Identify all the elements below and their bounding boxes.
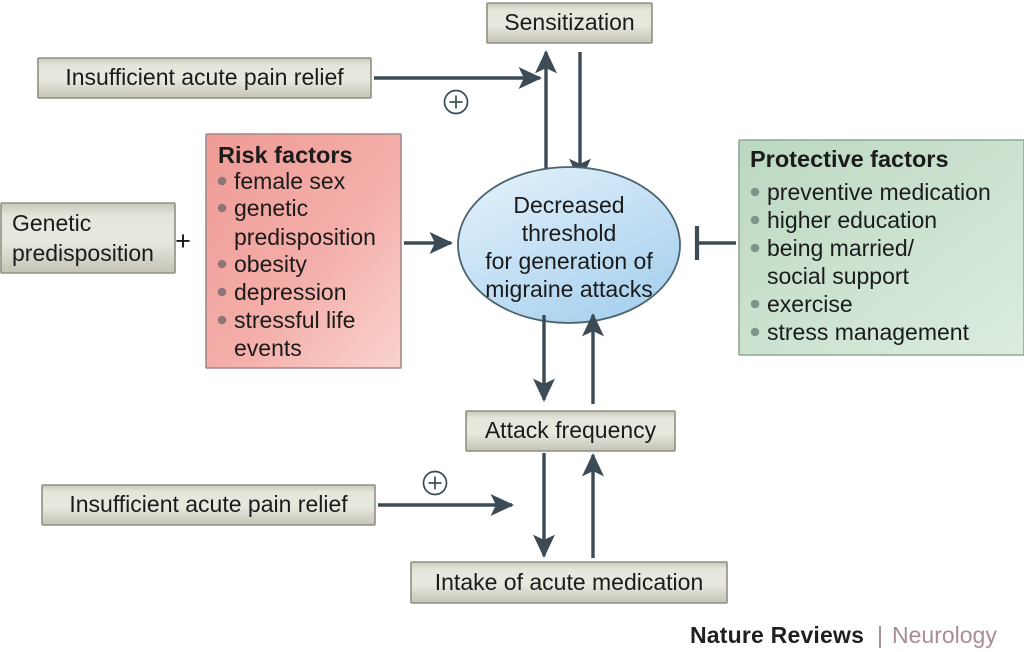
genetic-predisposition-label-line2: predisposition: [12, 240, 154, 266]
arrow-protective-factors-inhibits-ellipse: [697, 226, 736, 260]
bullet-icon: [218, 204, 227, 213]
node-insufficient-relief-top[interactable]: Insufficient acute pain relief: [38, 58, 371, 98]
credit-separator: |: [877, 622, 883, 648]
protective-factors-item-4: stress management: [767, 319, 970, 345]
bullet-icon: [751, 300, 760, 309]
risk-factors-item-4: stressful life: [234, 307, 355, 333]
credit-publisher: Nature Reviews: [690, 622, 864, 648]
sensitization-label: Sensitization: [504, 9, 634, 35]
node-intake-medication[interactable]: Intake of acute medication: [411, 562, 727, 603]
intake-medication-label: Intake of acute medication: [435, 569, 704, 595]
protective-factors-item-1: higher education: [767, 207, 937, 233]
protective-factors-item-2: being married/: [767, 235, 915, 261]
node-genetic-predisposition[interactable]: Genetic predisposition: [1, 203, 175, 273]
protective-factors-title: Protective factors: [750, 146, 949, 172]
figure-container: Sensitization Insufficient acute pain re…: [0, 0, 1024, 652]
risk-factors-item-2: obesity: [234, 251, 307, 277]
bullet-icon: [751, 216, 760, 225]
node-central-threshold[interactable]: Decreased threshold for generation of mi…: [458, 167, 680, 323]
bullet-icon: [218, 260, 227, 269]
risk-factors-item-0: female sex: [234, 168, 346, 194]
risk-factors-item-4-cont: events: [234, 335, 302, 361]
attack-frequency-label: Attack frequency: [485, 417, 657, 443]
bullet-icon: [218, 288, 227, 297]
plus-combine-operator: +: [175, 226, 191, 256]
plus-circle-top-icon: [445, 91, 468, 114]
bullet-icon: [751, 188, 760, 197]
bullet-icon: [218, 316, 227, 325]
node-attack-frequency[interactable]: Attack frequency: [466, 411, 675, 451]
genetic-predisposition-label-line1: Genetic: [12, 210, 91, 236]
central-line-0: Decreased: [513, 192, 624, 218]
protective-factors-item-2-cont: social support: [767, 263, 910, 289]
bullet-icon: [751, 244, 760, 253]
insufficient-relief-top-label: Insufficient acute pain relief: [65, 64, 344, 90]
protective-factors-item-0: preventive medication: [767, 179, 991, 205]
panel-risk-factors[interactable]: Risk factors female sex genetic predispo…: [206, 134, 401, 368]
bullet-icon: [751, 328, 760, 337]
node-sensitization[interactable]: Sensitization: [487, 3, 652, 43]
plus-circle-bottom-icon: [424, 472, 447, 495]
protective-factors-item-3: exercise: [767, 291, 853, 317]
central-line-1: threshold: [522, 220, 617, 246]
central-line-2: for generation of: [485, 248, 653, 274]
credit-journal: Neurology: [892, 622, 997, 648]
risk-factors-item-1-cont: predisposition: [234, 224, 376, 250]
insufficient-relief-bottom-label: Insufficient acute pain relief: [69, 491, 348, 517]
risk-factors-title: Risk factors: [218, 142, 353, 168]
bullet-icon: [218, 177, 227, 186]
risk-factors-item-1: genetic: [234, 195, 308, 221]
diagram-canvas: Sensitization Insufficient acute pain re…: [0, 0, 1024, 652]
credit-line: Nature Reviews | Neurology: [690, 622, 997, 648]
central-line-3: migraine attacks: [485, 276, 652, 302]
risk-factors-item-3: depression: [234, 279, 347, 305]
panel-protective-factors[interactable]: Protective factors preventive medication…: [739, 140, 1024, 355]
node-insufficient-relief-bottom[interactable]: Insufficient acute pain relief: [42, 485, 375, 525]
